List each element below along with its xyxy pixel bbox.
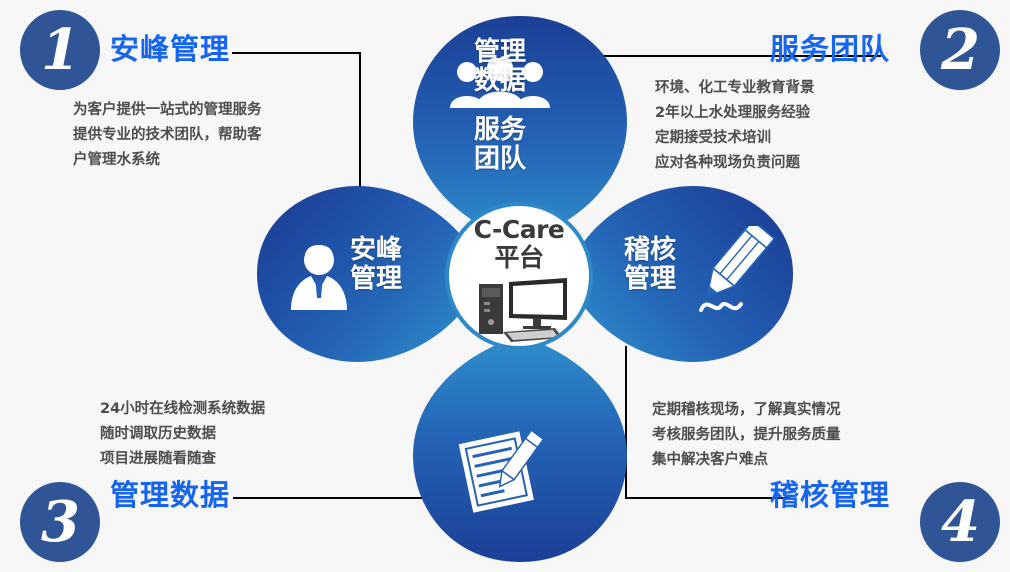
body-line: 24小时在线检测系统数据: [100, 397, 265, 422]
petal-label-service-team: 服务 团队: [445, 116, 555, 174]
number-badge-4: 4: [920, 482, 1000, 562]
section-title-3: 管理数据: [110, 472, 230, 514]
petal-label-audit-management: 稽核 管理: [607, 236, 693, 294]
body-line: 项目进展随看随查: [100, 447, 265, 472]
body-line: 集中解决客户难点: [652, 448, 841, 473]
section-title-1: 安峰管理: [110, 26, 230, 68]
section-body-4: 定期稽核现场，了解真实情况考核服务团队，提升服务质量集中解决客户难点: [652, 398, 841, 473]
body-line: 2年以上水处理服务经验: [655, 101, 815, 126]
body-line: 定期稽核现场，了解真实情况: [652, 398, 841, 423]
body-line: 环境、化工专业教育背景: [655, 76, 815, 101]
infographic-canvas: 服务 团队 管理 数据: [0, 0, 1010, 572]
body-line: 应对各种现场负责问题: [655, 151, 815, 176]
number-badge-2: 2: [920, 10, 1000, 90]
computer-icon: [473, 276, 573, 346]
section-title-4: 稽核管理: [770, 472, 890, 514]
section-body-1: 为客户提供一站式的管理服务提供专业的技术团队，帮助客户管理水系统: [73, 98, 262, 173]
body-line: 考核服务团队，提升服务质量: [652, 423, 841, 448]
pencil-signature-icon: [693, 226, 779, 322]
section-body-2: 环境、化工专业教育背景2年以上水处理服务经验定期接受技术培训应对各种现场负责问题: [655, 76, 815, 176]
body-line: 定期接受技术培训: [655, 126, 815, 151]
body-line: 户管理水系统: [73, 148, 262, 173]
number-badge-1: 1: [20, 10, 100, 90]
hub-title: C-Care 平台: [449, 216, 589, 272]
number-badge-3: 3: [20, 482, 100, 562]
body-line: 为客户提供一站式的管理服务: [73, 98, 262, 123]
center-hub[interactable]: C-Care 平台: [445, 202, 593, 350]
section-title-2: 服务团队: [770, 26, 890, 68]
petal-label-management-data: 管理 数据: [445, 38, 555, 96]
body-line: 随时调取历史数据: [100, 422, 265, 447]
petal-label-anfeng-management: 安峰 管理: [333, 236, 419, 294]
section-body-3: 24小时在线检测系统数据随时调取历史数据项目进展随看随查: [100, 397, 265, 472]
body-line: 提供专业的技术团队，帮助客: [73, 123, 262, 148]
clipboard-pencil-icon: [455, 424, 547, 516]
